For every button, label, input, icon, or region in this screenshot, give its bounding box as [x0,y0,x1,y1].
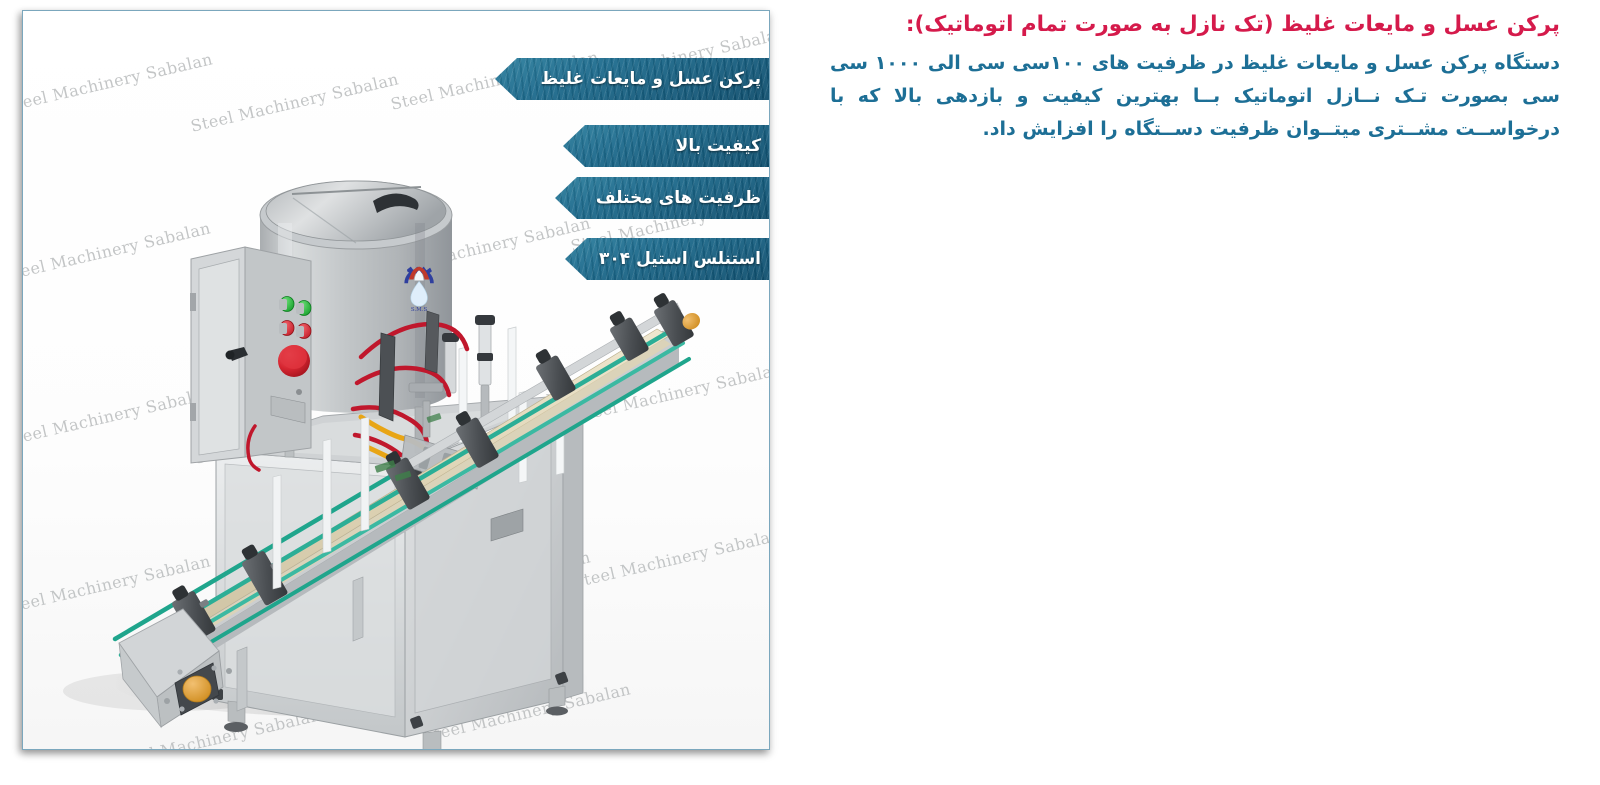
watermark-text: Steel Machinery Sabalan [573,359,769,425]
banner-label: ظرفیت های مختلف [555,188,763,208]
banner-stainless-steel-304[interactable]: استنلس استیل ۳۰۴ [565,238,769,280]
watermark-text: Steel Machinery Sabalan [23,49,215,115]
product-title: پرکن عسل و مایعات غلیظ (تک نازل به صورت … [830,9,1560,41]
product-image-frame: Steel Machinery Sabalan Steel Machinery … [22,10,770,750]
svg-text:S.M.S: S.M.S [411,307,428,313]
watermark-text: Steel Machinery Sabalan [189,69,401,135]
filling-machine-illustration: S.M.S [23,11,769,749]
watermark-text: Steel Machinery Sabalan [23,383,215,449]
banner-high-quality[interactable]: کیفیت بالا [563,125,769,167]
sms-logo: S.M.S [404,267,433,313]
product-description: دستگاه پرکن عسل و مایعات غلیظ در ظرفیت ه… [830,47,1560,145]
watermark-text: Steel Machinery Sabalan [421,679,633,745]
watermark-text: Steel Machinery Sabalan [23,551,213,617]
banner-label: پرکن عسل و مایعات غلیظ [495,69,763,89]
banner-product-name[interactable]: پرکن عسل و مایعات غلیظ [495,58,769,100]
watermark-text: Steel Machinery Sabalan [189,235,401,301]
banner-label: استنلس استیل ۳۰۴ [565,249,763,269]
conveyor-drive-motor [175,663,219,715]
watermark-text: Steel Machinery Sabalan [381,213,593,279]
product-image-canvas: Steel Machinery Sabalan Steel Machinery … [23,11,769,749]
watermark-text: Steel Machinery Sabalan [381,547,593,613]
emergency-stop-button [278,345,310,377]
banner-various-capacities[interactable]: ظرفیت های مختلف [555,177,769,219]
product-copy-column: پرکن عسل و مایعات غلیظ (تک نازل به صورت … [830,0,1560,145]
banner-label: کیفیت بالا [563,136,763,156]
conveyor-clamps [166,283,706,643]
watermark-text: Steel Machinery Sabalan [111,705,323,749]
panel-buttons [279,297,311,339]
watermark-text: Steel Machinery Sabalan [23,218,213,284]
product-description-text: دستگاه پرکن عسل و مایعات غلیظ در ظرفیت ه… [830,47,1560,145]
feature-banner-stack: پرکن عسل و مایعات غلیظ کیفیت بالا ظرفیت … [23,11,769,749]
watermark-text: Steel Machinery Sabalan [191,567,403,633]
watermark-text: Steel Machinery Sabalan [383,381,595,447]
watermark-text: Steel Machinery Sabalan [571,525,769,591]
watermark-text: Steel Machinery Sabalan [193,401,405,467]
